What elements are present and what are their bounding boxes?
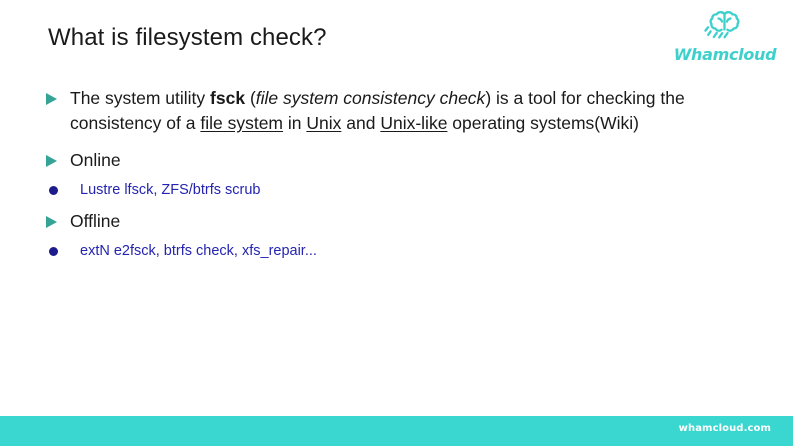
text-run: operating systems(Wiki) [447, 113, 639, 133]
text-run: in [283, 113, 306, 133]
dot-bullet-icon [49, 186, 58, 195]
bullet-online-label: Online [70, 150, 121, 170]
bullet-definition: The system utility fsck (file system con… [44, 86, 754, 136]
whamcloud-logo: Whamcloud [671, 8, 779, 63]
sub-bullet-online-tools: Lustre lfsck, ZFS/btrfs scrub [44, 179, 754, 201]
text-run-underline: file system [200, 113, 283, 133]
footer-website-text: whamcloud.com [679, 423, 771, 434]
triangle-bullet-icon [46, 216, 57, 228]
sub-bullet-offline-text: extN e2fsck, btrfs check, xfs_repair... [80, 243, 317, 259]
text-run-underline: Unix-like [380, 113, 447, 133]
text-run: The system utility [70, 88, 210, 108]
bullet-online: Online [44, 148, 754, 173]
slide: Whamcloud What is filesystem check? The … [0, 0, 793, 446]
text-run-underline: Unix [306, 113, 341, 133]
bullet-offline: Offline [44, 209, 754, 234]
whamcloud-wordmark: Whamcloud [671, 47, 779, 63]
triangle-bullet-icon [46, 93, 57, 105]
text-run-bold: fsck [210, 88, 245, 108]
text-run-italic: file system consistency check [256, 88, 486, 108]
spacer [44, 138, 754, 148]
slide-body: The system utility fsck (file system con… [44, 86, 754, 270]
whamcloud-cloud-icon [702, 8, 748, 46]
bullet-definition-text: The system utility fsck (file system con… [70, 88, 685, 133]
sub-bullet-offline-tools: extN e2fsck, btrfs check, xfs_repair... [44, 240, 754, 262]
text-run: and [341, 113, 380, 133]
bullet-offline-label: Offline [70, 211, 120, 231]
dot-bullet-icon [49, 247, 58, 256]
sub-bullet-online-text: Lustre lfsck, ZFS/btrfs scrub [80, 182, 261, 198]
page-title: What is filesystem check? [48, 24, 327, 52]
text-run: ( [245, 88, 256, 108]
footer-bar: whamcloud.com [0, 416, 793, 446]
triangle-bullet-icon [46, 155, 57, 167]
